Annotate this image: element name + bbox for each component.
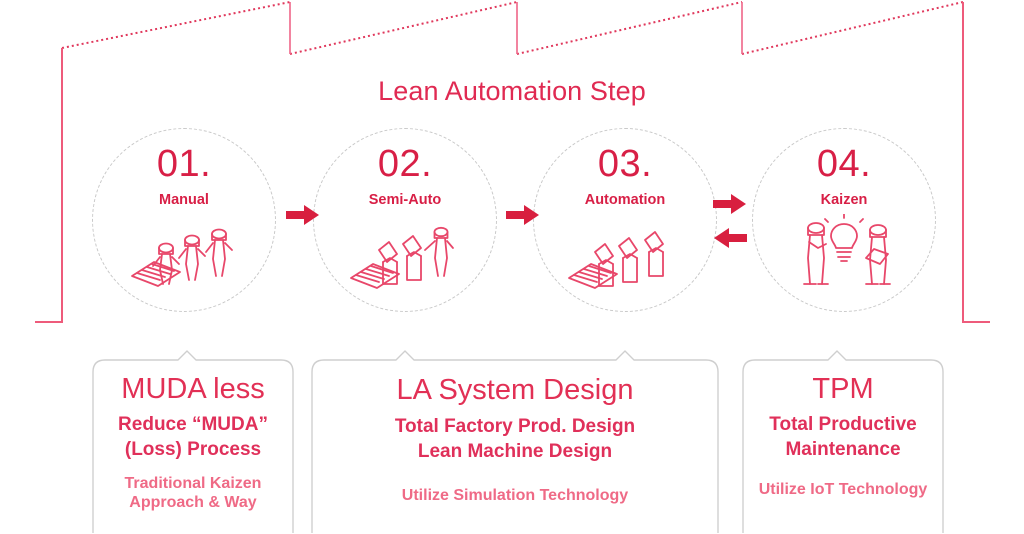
callout-la-system-design[interactable]: LA System Design Total Factory Prod. Des… xyxy=(311,350,719,534)
callout-la-system-design-subtitle-line-1: Total Factory Prod. Design xyxy=(311,415,719,439)
callout-muda-less-subtitle-line-1: Reduce “MUDA” xyxy=(92,413,294,437)
callout-tpm-footer-line-1: Utilize IoT Technology xyxy=(742,480,944,499)
arrow-step3-to-step4 xyxy=(713,193,747,215)
sawtooth-dotted-segments xyxy=(62,2,963,54)
step-number-01: 01. xyxy=(157,145,211,183)
step-label-01: Manual xyxy=(159,193,209,208)
step-label-03: Automation xyxy=(585,193,666,208)
callout-la-system-design-subtitle-line-2: Lean Machine Design xyxy=(311,440,719,464)
callout-muda-less-footer-line-1: Traditional Kaizen xyxy=(92,474,294,493)
automation-machines-icon xyxy=(565,214,685,292)
arrow-step4-to-step3 xyxy=(713,227,747,249)
callout-tpm[interactable]: TPM Total Productive Maintenance Utilize… xyxy=(742,350,944,534)
people-lightbulb-icon xyxy=(784,214,904,292)
callout-la-system-design-heading: LA System Design xyxy=(311,375,719,405)
callout-muda-less-heading: MUDA less xyxy=(92,374,294,404)
semi-auto-machines-icon xyxy=(345,214,465,292)
step-label-04: Kaizen xyxy=(821,193,868,208)
workers-conveyor-icon xyxy=(124,214,244,292)
step-circle-01[interactable]: 01. Manual xyxy=(92,128,276,312)
callout-tpm-subtitle-line-2: Maintenance xyxy=(742,438,944,462)
sawtooth-drop-lines xyxy=(290,2,742,54)
step-label-02: Semi-Auto xyxy=(369,193,442,208)
step-circle-03[interactable]: 03. Automation xyxy=(533,128,717,312)
arrow-step2-to-step3 xyxy=(506,204,540,226)
step-number-03: 03. xyxy=(598,145,652,183)
step-circle-04[interactable]: 04. Kaizen xyxy=(752,128,936,312)
arrow-step1-to-step2 xyxy=(286,204,320,226)
callout-la-system-design-footer-line-1: Utilize Simulation Technology xyxy=(311,486,719,505)
page-title: Lean Automation Step xyxy=(0,76,1024,107)
step-circle-02[interactable]: 02. Semi-Auto xyxy=(313,128,497,312)
step-number-04: 04. xyxy=(817,145,871,183)
callout-tpm-subtitle-line-1: Total Productive xyxy=(742,413,944,437)
callout-tpm-heading: TPM xyxy=(742,374,944,404)
right-bracket xyxy=(963,2,990,322)
callout-muda-less-footer-line-2: Approach & Way xyxy=(92,493,294,512)
step-number-02: 02. xyxy=(378,145,432,183)
callout-muda-less-subtitle-line-2: (Loss) Process xyxy=(92,438,294,462)
infographic-canvas: Lean Automation Step 01. Manual xyxy=(0,0,1024,534)
callout-muda-less[interactable]: MUDA less Reduce “MUDA” (Loss) Process T… xyxy=(92,350,294,534)
